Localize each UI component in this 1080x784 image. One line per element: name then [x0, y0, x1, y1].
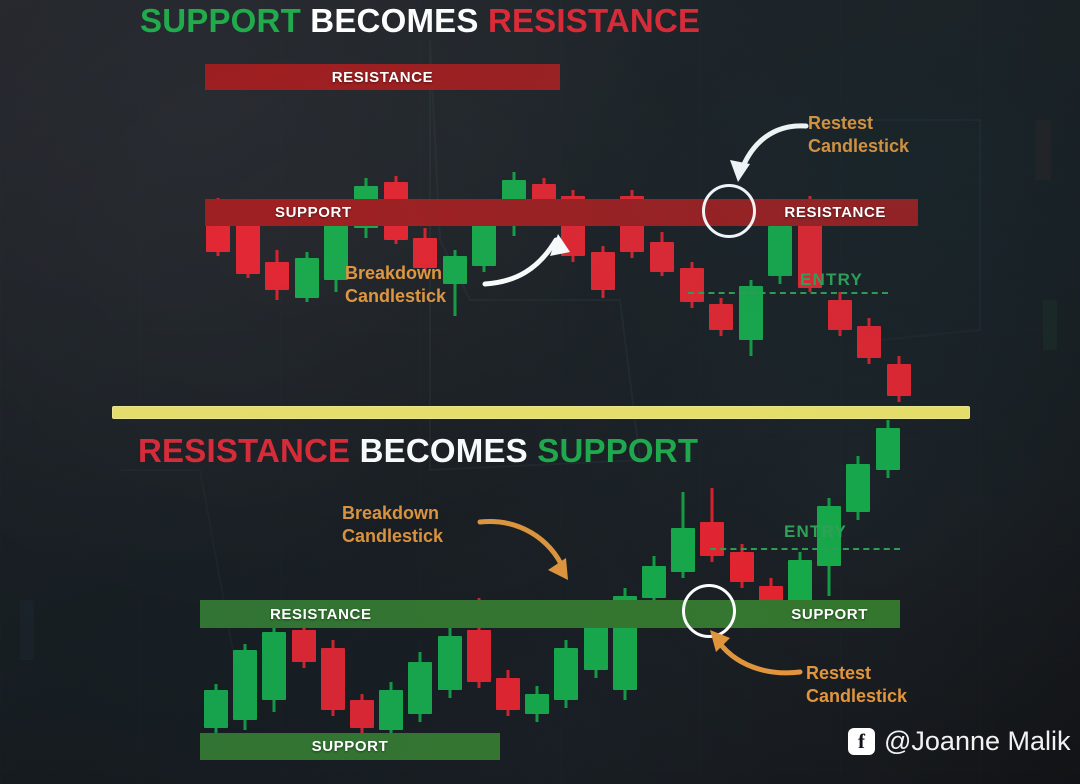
title-part-becomes-2: BECOMES — [360, 432, 528, 469]
candle-body — [438, 636, 462, 690]
top-flip-zone-label-resistance: RESISTANCE — [784, 204, 886, 221]
candle — [817, 498, 841, 596]
candle — [321, 640, 345, 716]
candle — [525, 686, 549, 722]
candle — [262, 624, 286, 712]
candle — [846, 456, 870, 520]
candle — [496, 670, 520, 716]
bottom-flip-zone-band: RESISTANCE SUPPORT — [200, 600, 900, 628]
candle — [700, 488, 724, 562]
candle — [591, 246, 615, 298]
candle — [379, 682, 403, 736]
candle — [292, 622, 316, 668]
candle-body — [887, 364, 911, 396]
title-part-resistance-2: RESISTANCE — [138, 432, 350, 469]
candle — [233, 644, 257, 730]
candle-body — [671, 528, 695, 572]
candle-body — [467, 630, 491, 682]
top-breakdown-line1: Breakdown — [345, 262, 446, 285]
bottom-support-band: SUPPORT — [200, 733, 500, 760]
candle-body — [204, 690, 228, 728]
bottom-breakdown-annotation: Breakdown Candlestick — [342, 502, 443, 548]
panel-top-title: SUPPORT BECOMES RESISTANCE — [140, 2, 700, 40]
candle-body — [700, 522, 724, 556]
candle-body — [233, 650, 257, 720]
candle — [236, 218, 260, 278]
candle-body — [443, 256, 467, 284]
candle-body — [739, 286, 763, 340]
candle-body — [321, 648, 345, 710]
candle — [650, 232, 674, 276]
top-restest-line2: Candlestick — [808, 135, 909, 158]
candle-body — [408, 662, 432, 714]
top-entry-label: ENTRY — [800, 270, 863, 290]
candle — [438, 628, 462, 698]
bottom-support-band-label: SUPPORT — [312, 738, 389, 755]
bottom-restest-line1: Restest — [806, 662, 907, 685]
panel-bottom-title: RESISTANCE BECOMES SUPPORT — [138, 432, 698, 470]
bottom-entry-label: ENTRY — [784, 522, 847, 542]
candle-body — [642, 566, 666, 598]
top-flip-zone-label-support: SUPPORT — [275, 204, 352, 221]
background-ghost-chart — [0, 0, 1080, 784]
candle-body — [292, 630, 316, 662]
candle-body — [554, 648, 578, 700]
candle — [408, 652, 432, 722]
bottom-restest-annotation: Restest Candlestick — [806, 662, 907, 708]
candle-body — [591, 252, 615, 290]
title-part-resistance: RESISTANCE — [488, 2, 700, 39]
candle — [857, 318, 881, 364]
candle-body — [730, 552, 754, 582]
candle-body — [262, 632, 286, 700]
candle — [730, 544, 754, 588]
title-part-support-2: SUPPORT — [537, 432, 698, 469]
candle-body — [709, 304, 733, 330]
bottom-flip-zone-label-support: SUPPORT — [791, 606, 868, 623]
infographic-canvas: SUPPORT BECOMES RESISTANCE RESISTANCE SU… — [0, 0, 1080, 784]
candle — [709, 298, 733, 336]
candle-body — [295, 258, 319, 298]
candle — [295, 252, 319, 302]
candle-body — [379, 690, 403, 730]
candle-body — [768, 226, 792, 276]
bottom-restest-line2: Candlestick — [806, 685, 907, 708]
candle-body — [350, 700, 374, 728]
candle-body — [857, 326, 881, 358]
bottom-entry-line — [710, 548, 900, 550]
top-flip-zone-band: SUPPORT RESISTANCE — [205, 199, 918, 226]
facebook-icon — [848, 728, 875, 755]
title-part-becomes: BECOMES — [310, 2, 478, 39]
top-entry-line — [688, 292, 888, 294]
bottom-breakdown-arrow-icon — [478, 500, 588, 586]
top-breakdown-annotation: Breakdown Candlestick — [345, 262, 446, 308]
bottom-retest-circle — [682, 584, 736, 638]
candle-body — [680, 268, 704, 302]
top-restest-annotation: Restest Candlestick — [808, 112, 909, 158]
candle — [204, 684, 228, 734]
candle-body — [236, 222, 260, 274]
title-part-support: SUPPORT — [140, 2, 301, 39]
candle — [828, 292, 852, 336]
candle-body — [265, 262, 289, 290]
candle-body — [525, 694, 549, 714]
candle — [671, 492, 695, 578]
candle — [887, 356, 911, 402]
candle-body — [584, 626, 608, 670]
top-resistance-band: RESISTANCE — [205, 64, 560, 90]
top-retest-circle — [702, 184, 756, 238]
bottom-breakdown-line2: Candlestick — [342, 525, 443, 548]
candle — [443, 250, 467, 316]
candle-body — [876, 428, 900, 470]
candle — [680, 262, 704, 308]
candle — [265, 250, 289, 300]
top-breakdown-line2: Candlestick — [345, 285, 446, 308]
candle — [876, 420, 900, 478]
watermark: @Joanne Malik — [848, 726, 1071, 757]
section-divider — [112, 406, 970, 419]
candle — [642, 556, 666, 604]
candle-body — [828, 300, 852, 330]
candle — [554, 640, 578, 708]
top-resistance-band-label: RESISTANCE — [332, 69, 434, 86]
bottom-breakdown-line1: Breakdown — [342, 502, 443, 525]
watermark-handle: @Joanne Malik — [884, 726, 1071, 757]
bottom-flip-zone-label-resistance: RESISTANCE — [270, 606, 372, 623]
candle — [350, 694, 374, 734]
candle-body — [650, 242, 674, 272]
candle-body — [846, 464, 870, 512]
candle-body — [496, 678, 520, 710]
top-restest-line1: Restest — [808, 112, 909, 135]
